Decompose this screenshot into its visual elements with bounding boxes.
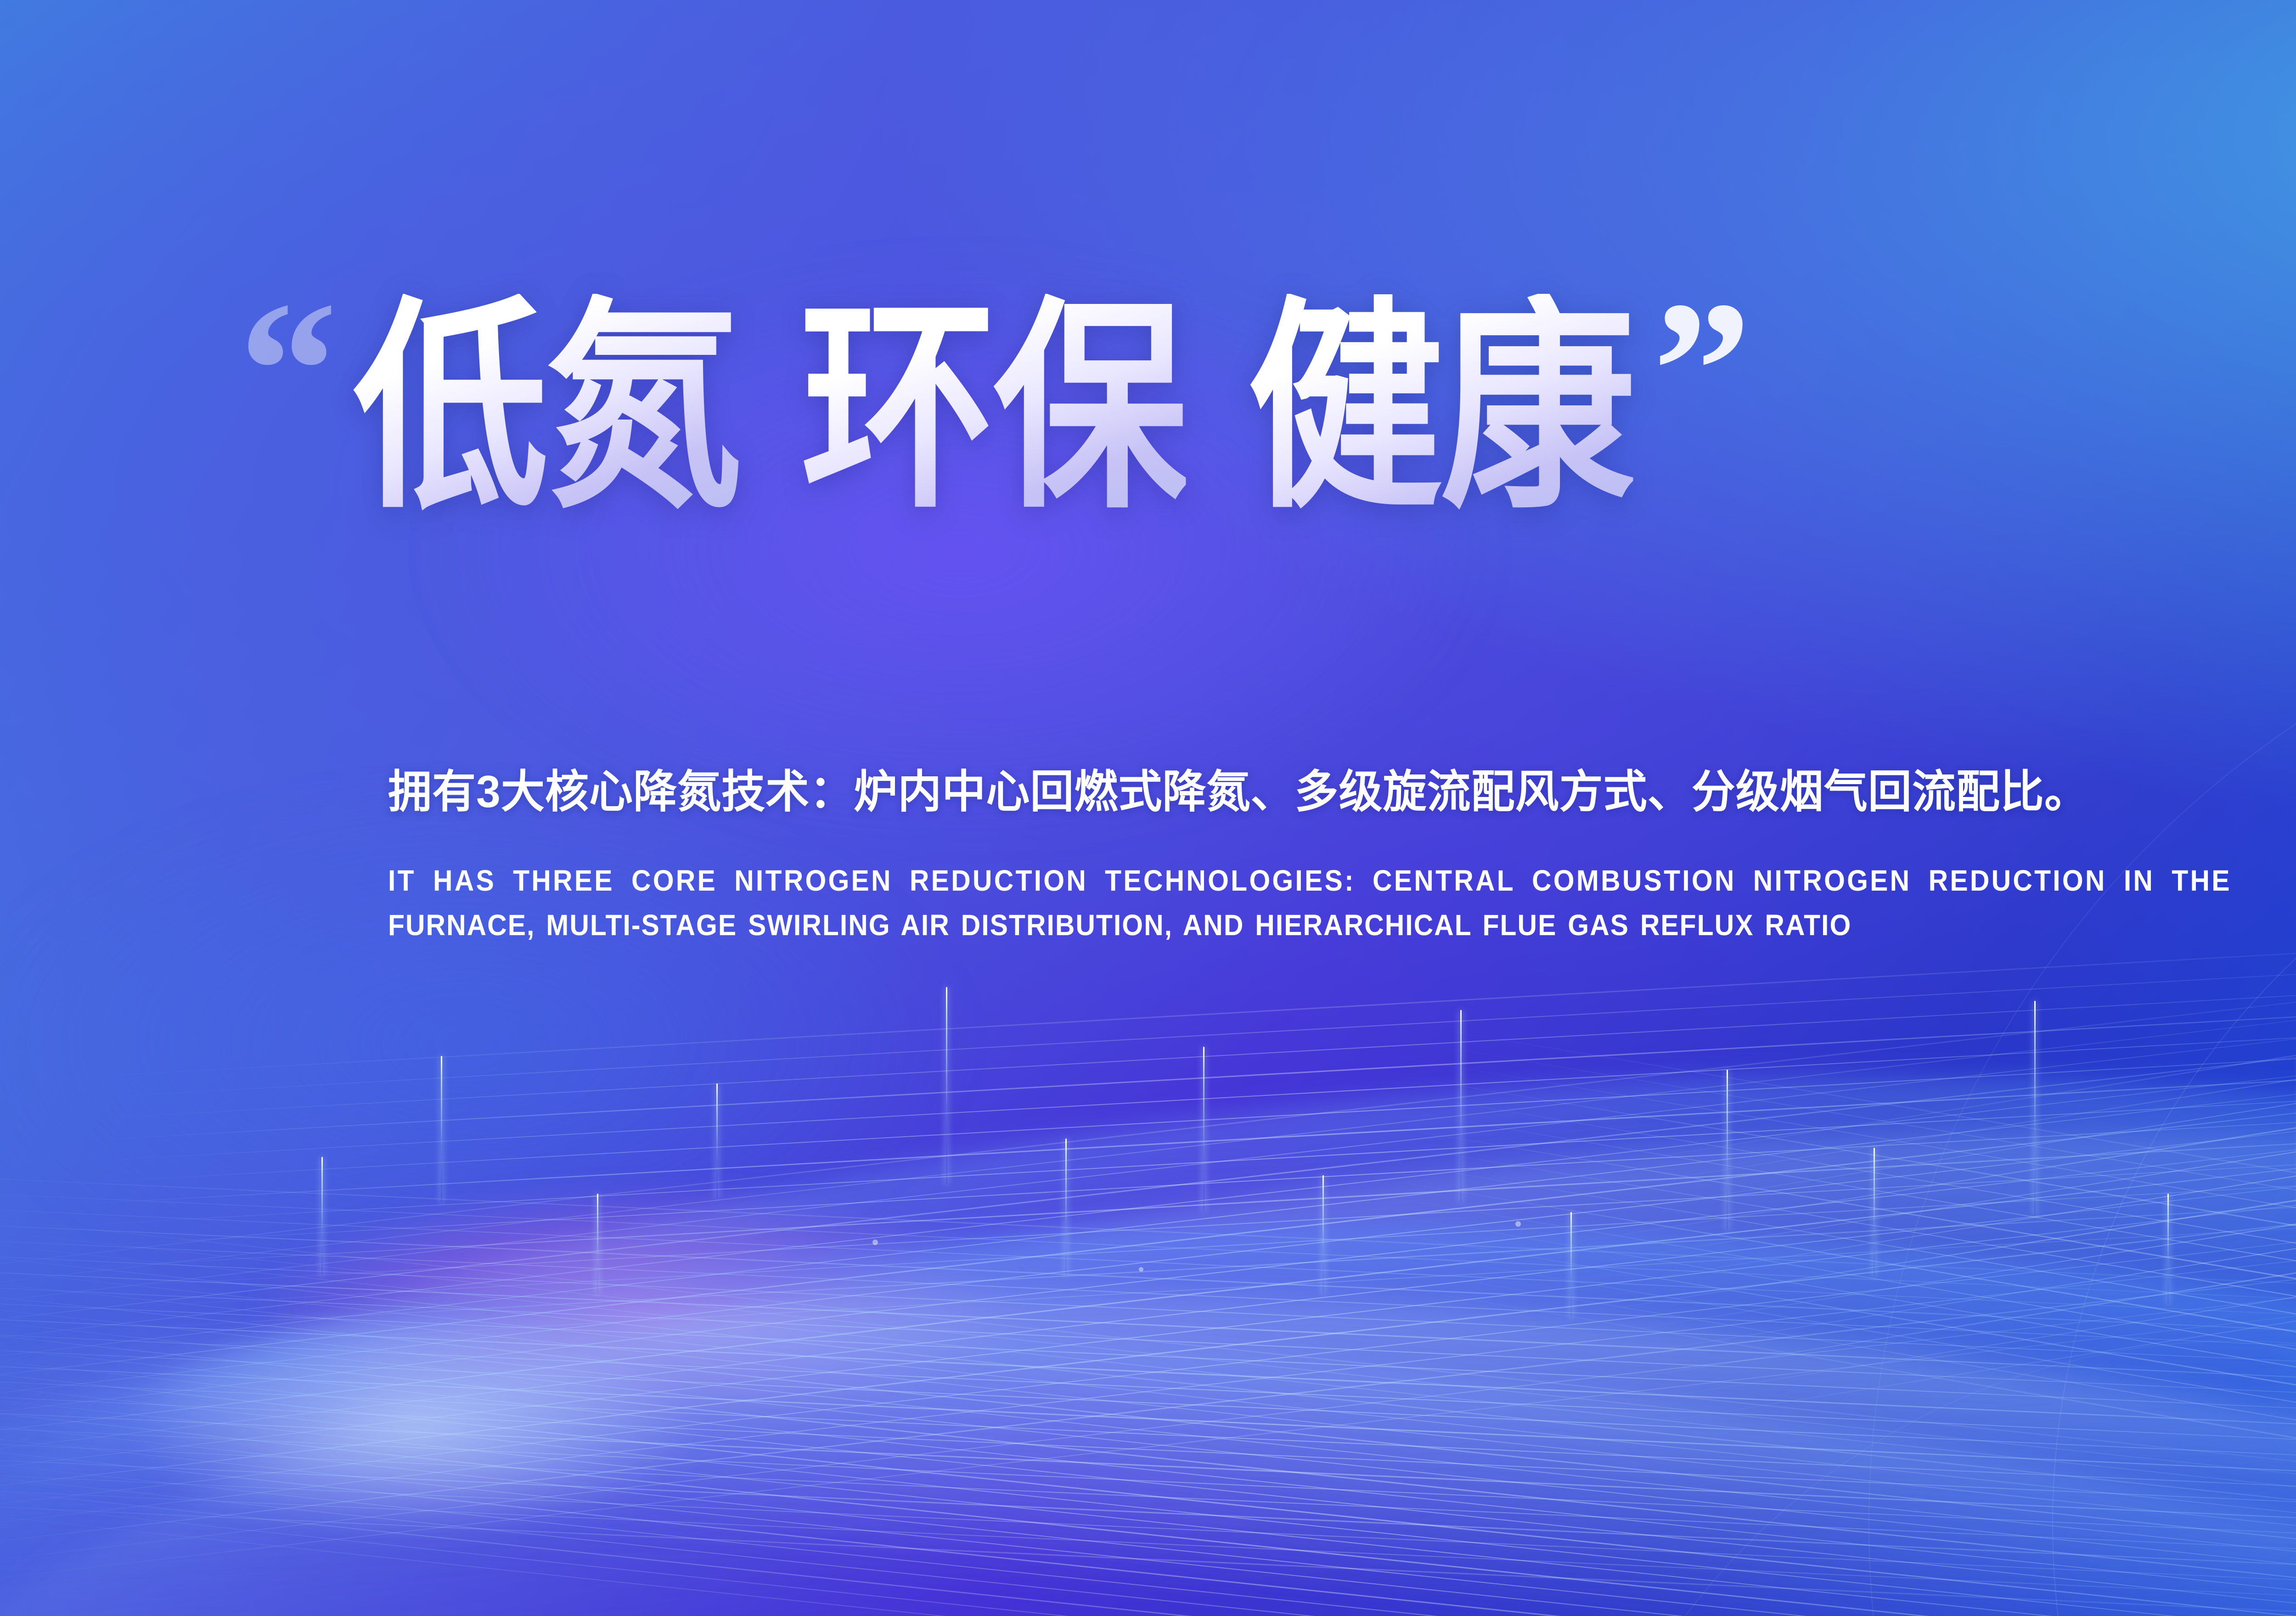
headline-word: 健康 — [1248, 294, 1633, 523]
headline: “ 低氮 环保 健康 ” — [239, 294, 1751, 495]
poster-canvas: 科技-共赢 SCIENCE AND TECHNOLOGY AND WIN-WIN… — [0, 0, 2296, 1616]
headline-words: 低氮 环保 健康 — [353, 294, 1637, 495]
white-glow — [0, 1261, 832, 1584]
purple-bloom — [192, 129, 1728, 970]
light-streak — [1570, 1212, 1572, 1318]
subtitle-chinese: 拥有3大核心降氮技术：炉内中心回燃式降氮、多级旋流配风方式、分级烟气回流配比。 — [388, 755, 2088, 820]
arc-decoration — [1868, 560, 2296, 1616]
close-quote-mark: ” — [1653, 294, 1751, 448]
sparkle-dot — [1515, 1221, 1521, 1227]
open-quote-mark: “ — [239, 294, 338, 448]
strand-family — [58, 924, 2296, 1382]
light-streak — [597, 1194, 598, 1295]
light-streak — [1322, 1175, 1324, 1295]
strand-family — [1524, 902, 2296, 1469]
wave-band — [0, 1156, 2296, 1616]
light-streak — [1460, 1010, 1462, 1203]
light-streak — [1065, 1139, 1067, 1276]
light-streak — [441, 1056, 442, 1203]
arc-decoration — [1547, 1341, 2296, 1616]
subtitle-english-line2: FURNACE, MULTI-STAGE SWIRLING AIR DISTRI… — [388, 903, 2296, 948]
subtitle-english: IT HAS THREE CORE NITROGEN REDUCTION TEC… — [388, 858, 2296, 948]
light-streak — [2034, 1001, 2036, 1217]
headline-word: 环保 — [800, 294, 1186, 523]
light-streak — [1727, 1070, 1728, 1230]
wave-band — [0, 1147, 2296, 1616]
headline-word: 低氮 — [353, 294, 739, 523]
sparkle-dot — [1139, 1267, 1143, 1272]
light-streak — [2167, 1194, 2169, 1304]
cyan-glow — [2112, 1196, 2296, 1584]
sparkle-dot — [872, 1240, 878, 1245]
light-streak — [1874, 1148, 1875, 1276]
subtitle-english-line1: IT HAS THREE CORE NITROGEN REDUCTION TEC… — [388, 858, 2296, 903]
pink-glow — [96, 1131, 1184, 1487]
strand-family — [0, 945, 2296, 1616]
light-streak — [716, 1083, 718, 1198]
light-streak — [946, 987, 947, 1184]
wave-band — [0, 974, 2296, 1616]
wave-band — [0, 983, 2296, 1616]
strand-family — [0, 1170, 2296, 1616]
strand-family — [0, 1208, 2296, 1616]
light-streak — [321, 1157, 323, 1276]
wave-band — [0, 1130, 2296, 1616]
strand-family — [1334, 1019, 2296, 1616]
light-streak — [1203, 1047, 1204, 1212]
